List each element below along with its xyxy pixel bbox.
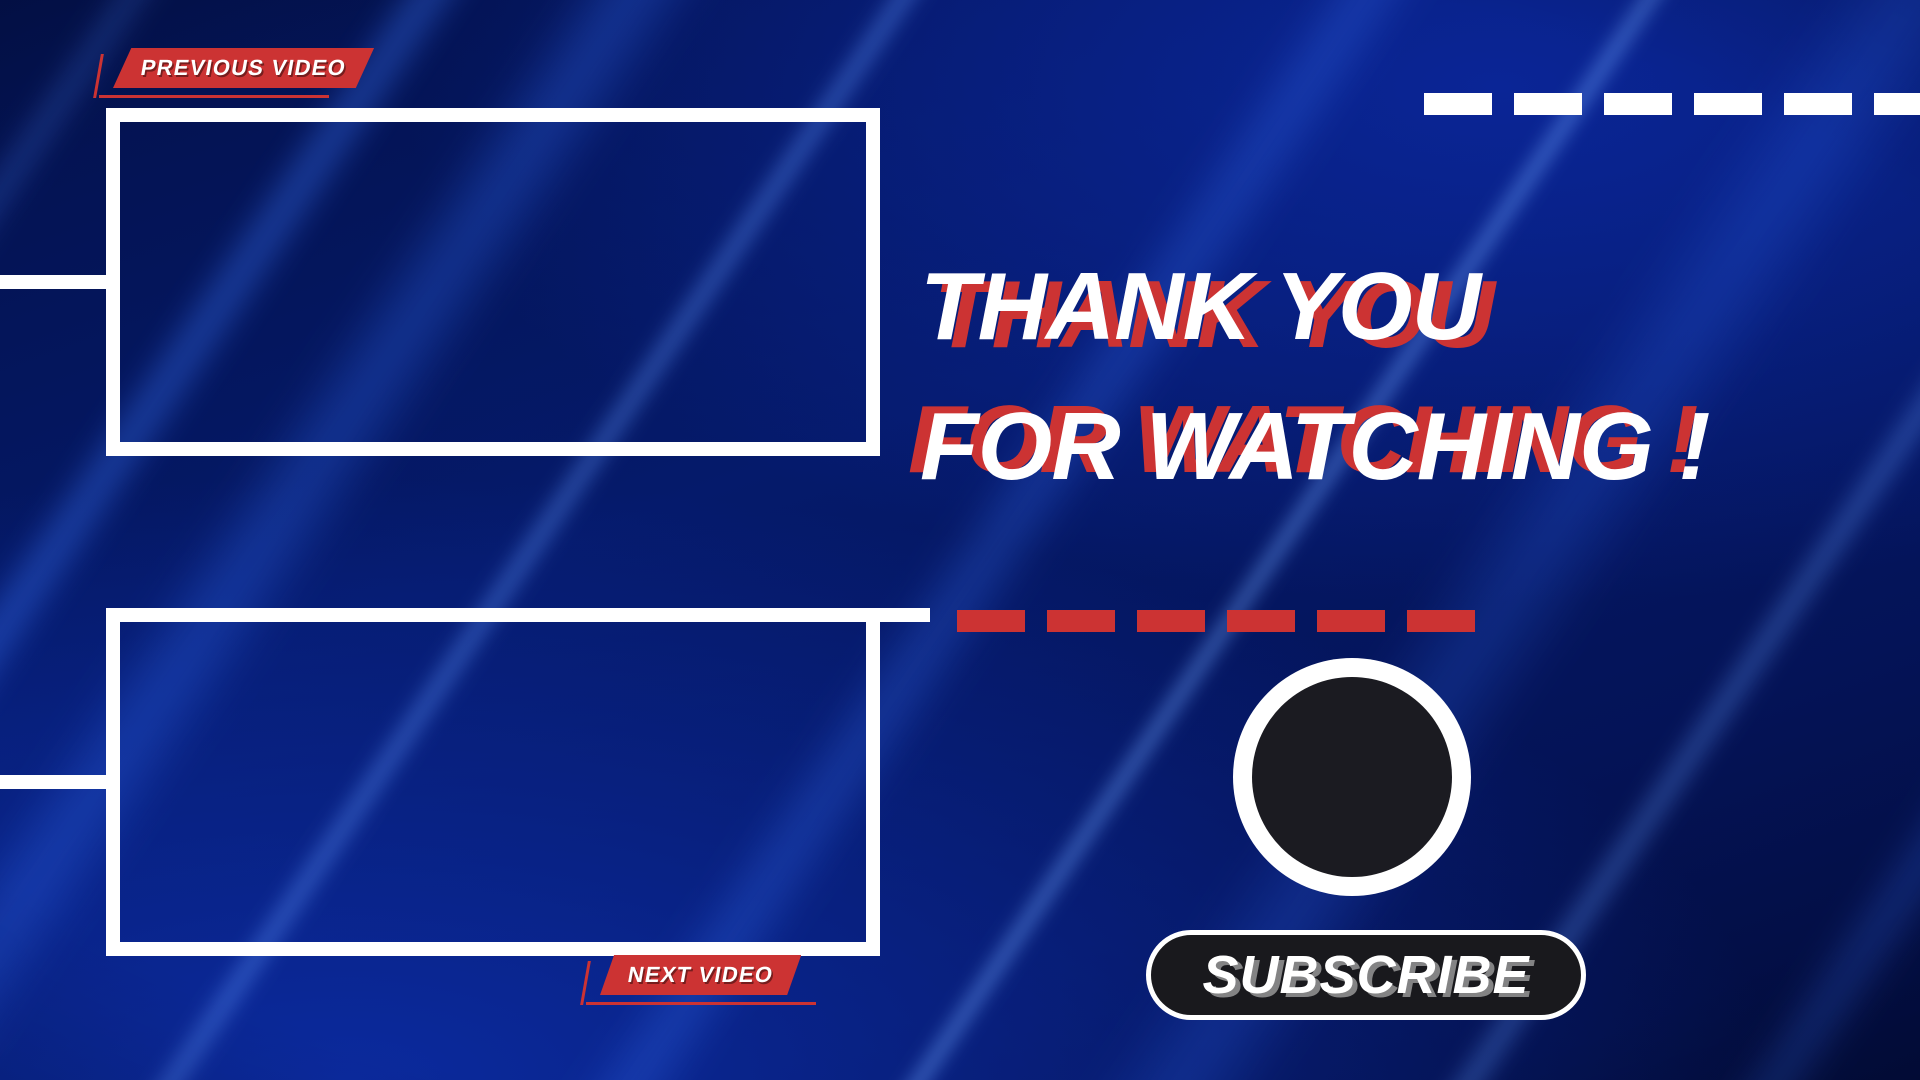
previous-video-label: PREVIOUS VIDEO	[139, 55, 349, 81]
headline-line-1: THANK YOU THANK YOU	[920, 248, 1880, 366]
ribbon-shape: NEXT VIDEO	[600, 955, 801, 995]
red-dash-segment	[1227, 610, 1295, 632]
ribbon-shape: PREVIOUS VIDEO	[113, 48, 374, 88]
next-video-connector-stub	[0, 775, 107, 789]
channel-avatar-image	[1252, 677, 1452, 877]
white-dash-segment	[1514, 93, 1582, 115]
red-dash-segment	[1137, 610, 1205, 632]
white-dash-segment	[1694, 93, 1762, 115]
next-video-ribbon[interactable]: NEXT VIDEO	[600, 955, 801, 995]
previous-video-connector-stub	[0, 275, 107, 289]
next-video-placeholder[interactable]	[106, 608, 880, 956]
white-dashed-rule	[1424, 93, 1920, 115]
previous-video-placeholder[interactable]	[106, 108, 880, 456]
red-dashed-rule	[957, 610, 1497, 632]
subscribe-button-label: SUBSCRIBE	[1202, 944, 1529, 1006]
headline-line-1-text: THANK YOU	[920, 248, 1480, 366]
next-video-frame-tab	[866, 608, 930, 622]
ribbon-underline	[586, 1002, 816, 1005]
previous-video-ribbon[interactable]: PREVIOUS VIDEO	[113, 48, 374, 88]
red-dash-segment	[1047, 610, 1115, 632]
end-screen-canvas: PREVIOUS VIDEO NEXT VIDEO THANK YOU THAN…	[0, 0, 1920, 1080]
white-dash-segment	[1604, 93, 1672, 115]
red-dash-segment	[957, 610, 1025, 632]
red-dash-segment	[1317, 610, 1385, 632]
red-dash-segment	[1407, 610, 1475, 632]
channel-avatar[interactable]	[1233, 658, 1471, 896]
subscribe-button[interactable]: SUBSCRIBE	[1146, 930, 1586, 1020]
headline-line-2: FOR WATCHING ! FOR WATCHING !	[920, 388, 1880, 506]
white-dash-segment	[1874, 93, 1920, 115]
white-dash-segment	[1784, 93, 1852, 115]
headline-line-2-text: FOR WATCHING !	[920, 388, 1709, 506]
ribbon-underline	[99, 95, 329, 98]
headline-block: THANK YOU THANK YOU FOR WATCHING ! FOR W…	[920, 248, 1880, 506]
white-dash-segment	[1424, 93, 1492, 115]
next-video-label: NEXT VIDEO	[626, 962, 776, 988]
